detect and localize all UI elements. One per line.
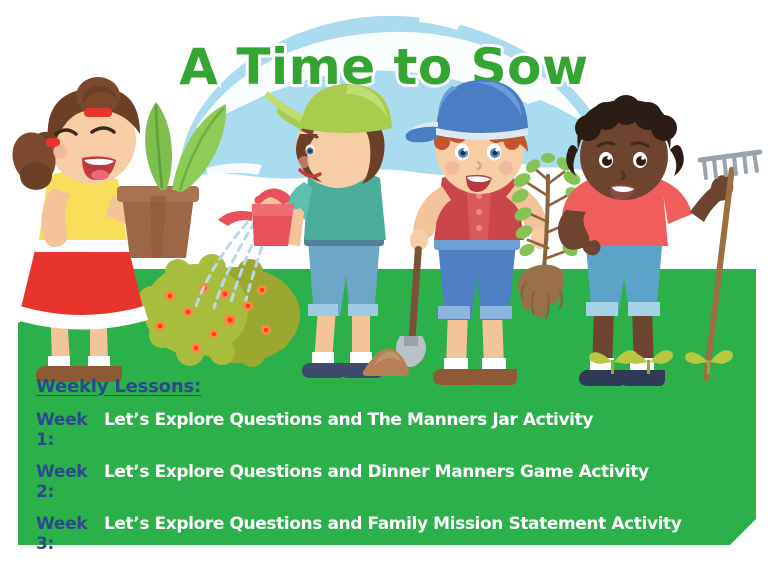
lesson-row: Week 3: Let’s Explore Questions and Fami…	[36, 514, 736, 554]
lesson-text: Let’s Explore Questions and The Manners …	[104, 410, 593, 430]
watering-can	[218, 188, 294, 246]
lesson-row: Week 1: Let’s Explore Questions and The …	[36, 410, 736, 450]
berry-bush	[138, 254, 300, 367]
lesson-row: Week 2: Let’s Explore Questions and Dinn…	[36, 462, 736, 502]
week-label: Week 3:	[36, 514, 104, 554]
rake	[700, 152, 760, 382]
weekly-lessons-block: Weekly Lessons: Week 1: Let’s Explore Qu…	[36, 376, 736, 568]
week-label: Week 1:	[36, 410, 104, 450]
character-boy-with-sapling	[363, 80, 587, 385]
lesson-text: Let’s Explore Questions and Dinner Manne…	[104, 462, 649, 482]
character-boy-with-rake	[558, 95, 760, 386]
weekly-lessons-heading: Weekly Lessons:	[36, 376, 736, 397]
week-label: Week 2:	[36, 462, 104, 502]
lesson-text: Let’s Explore Questions and Family Missi…	[104, 514, 681, 534]
poster: A Time to Sow	[0, 0, 768, 568]
shovel	[396, 246, 426, 367]
